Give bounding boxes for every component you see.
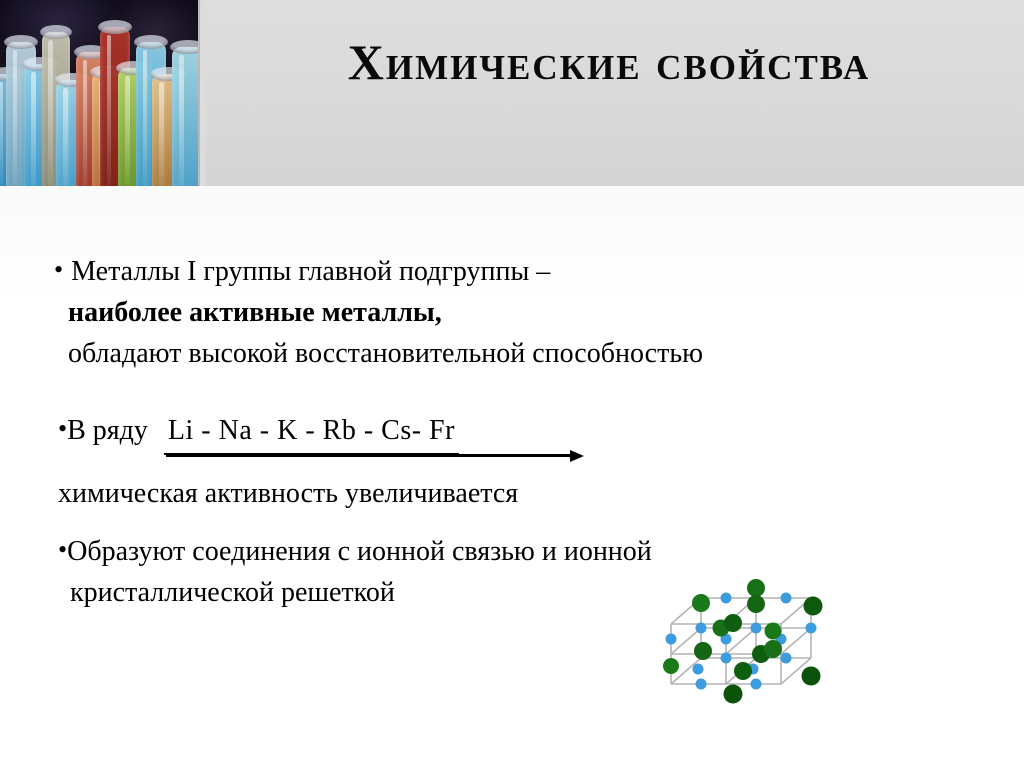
lattice-svg (655, 576, 845, 706)
test-tube (172, 47, 200, 186)
bullet-item-3: •Образуют соединения с ионной связью и и… (58, 529, 1008, 613)
bullet-1-line-3: обладают высокой восстановительной спосо… (54, 333, 1004, 374)
bullet-item-2: •В рядуLi - Na - K - Rb - Cs- Fr химичес… (58, 408, 1008, 514)
bullet-item-1: •Металлы I группы главной подгруппы – на… (54, 249, 1004, 374)
bullet-3-line-2: кристаллической решеткой (58, 572, 1008, 613)
page-title: Химические свойства (206, 36, 1012, 89)
bullet-1-line-2: наиболее активные металлы, (54, 292, 1004, 333)
arrow-shaft (166, 454, 570, 457)
bullet-3-text-1: Образуют соединения с ионной связью и ио… (67, 536, 652, 567)
slide: Химические свойства •Металлы I группы гл… (0, 0, 1024, 767)
bullet-2-line-2: химическая активность увеличивается (58, 473, 1008, 514)
bullet-marker-icon: • (58, 529, 67, 570)
slide-content: •Металлы I группы главной подгруппы – на… (0, 186, 1024, 767)
arrow-head (570, 450, 584, 462)
bullet-marker-icon: • (58, 408, 67, 449)
activity-series-text: Li - Na - K - Rb - Cs- Fr (164, 410, 459, 455)
right-arrow-icon (166, 450, 584, 462)
bullet-2-line-1: •В рядуLi - Na - K - Rb - Cs- Fr (58, 408, 1008, 455)
activity-series: Li - Na - K - Rb - Cs- Fr (164, 410, 459, 455)
bullet-marker-icon: • (54, 249, 63, 290)
bullet-1-line-1: •Металлы I группы главной подгруппы – (54, 249, 1004, 292)
bullet-2-lead-text: В ряду (67, 415, 148, 446)
header-band-fill (206, 0, 1024, 186)
ionic-crystal-lattice (655, 576, 845, 706)
bullet-3-line-1: •Образуют соединения с ионной связью и и… (58, 529, 1008, 572)
test-tubes-photo (0, 0, 200, 186)
bullet-1-text-1: Металлы I группы главной подгруппы – (71, 256, 550, 287)
